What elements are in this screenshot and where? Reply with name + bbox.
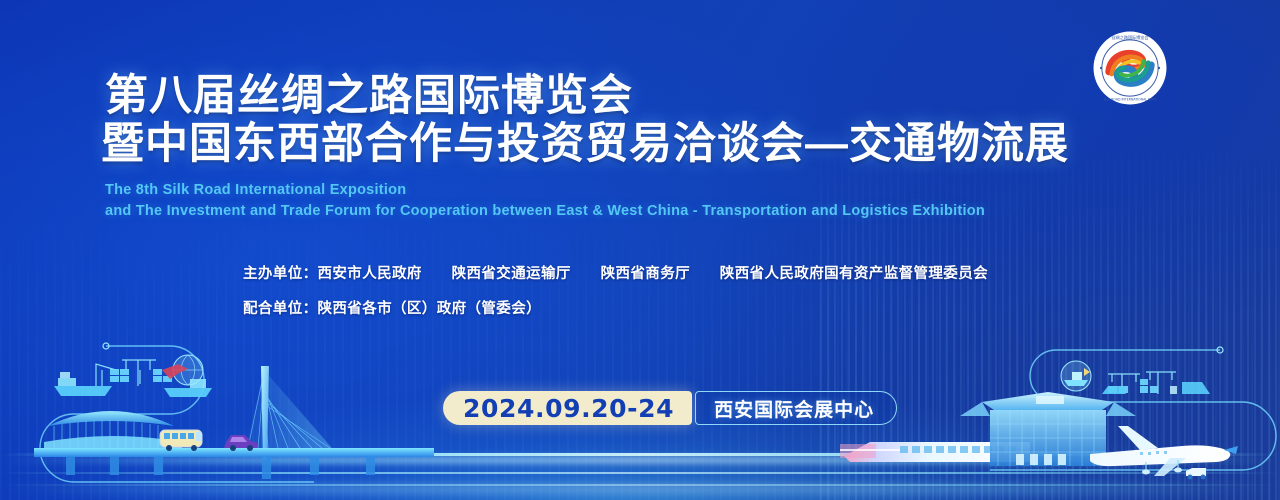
subtitle-en-line1: The 8th Silk Road International Expositi… [105, 180, 1195, 201]
port-and-bridge-illustration [14, 330, 434, 500]
expo-banner: 丝绸之路国际博览会 SILK ROAD INTERNATIONAL EXPO 第… [0, 0, 1280, 500]
subtitle-en-line2: and The Investment and Trade Forum for C… [105, 201, 1195, 222]
event-venue: 西安国际会展中心 [695, 391, 897, 425]
light-streak [0, 484, 1280, 494]
svg-text:丝绸之路国际博览会: 丝绸之路国际博览会 [1112, 34, 1149, 40]
light-streak [0, 453, 1280, 456]
partner-organizations-line: 配合单位：陕西省各市（区）政府（管委会） [243, 298, 988, 320]
light-streak [0, 472, 1280, 474]
title-block: 第八届丝绸之路国际博览会 暨中国东西部合作与投资贸易洽谈会—交通物流展 The … [105, 72, 1195, 221]
light-streak [0, 484, 1280, 486]
light-streaks [0, 420, 1280, 500]
host-organizations-line: 主办单位：西安市人民政府 陕西省交通运输厅 陕西省商务厅 陕西省人民政府国有资产… [243, 263, 988, 285]
page-title-line2: 暨中国东西部合作与投资贸易洽谈会—交通物流展 [101, 120, 1195, 168]
page-title-line1: 第八届丝绸之路国际博览会 [105, 72, 1195, 120]
event-date: 2024.09.20-24 [443, 391, 692, 425]
station-and-air-illustration [840, 338, 1280, 500]
light-streak [0, 456, 1280, 464]
organizers-block: 主办单位：西安市人民政府 陕西省交通运输厅 陕西省商务厅 陕西省人民政府国有资产… [243, 263, 988, 321]
event-date-venue-badge: 2024.09.20-24 西安国际会展中心 [443, 391, 897, 425]
